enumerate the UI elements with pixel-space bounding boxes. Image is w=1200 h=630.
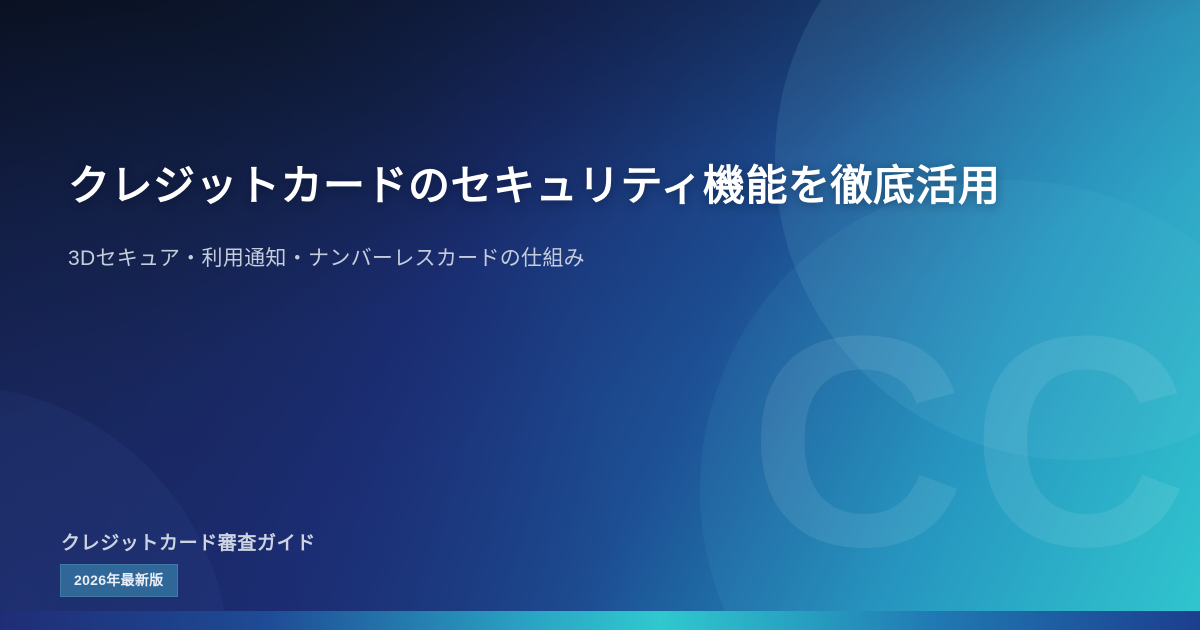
og-image-card: CC クレジットカードのセキュリティ機能を徹底活用 3Dセキュア・利用通知・ナン… <box>0 0 1200 630</box>
content-area: クレジットカードのセキュリティ機能を徹底活用 3Dセキュア・利用通知・ナンバーレ… <box>0 0 1200 630</box>
page-subtitle: 3Dセキュア・利用通知・ナンバーレスカードの仕組み <box>68 243 968 275</box>
bottom-accent-bar <box>0 611 1200 630</box>
page-title: クレジットカードのセキュリティ機能を徹底活用 <box>68 158 1078 213</box>
footer-block: クレジットカード審査ガイド 2026年最新版 <box>60 528 316 597</box>
status-badge: 2026年最新版 <box>60 564 178 597</box>
brand-name: クレジットカード審査ガイド <box>61 528 316 555</box>
